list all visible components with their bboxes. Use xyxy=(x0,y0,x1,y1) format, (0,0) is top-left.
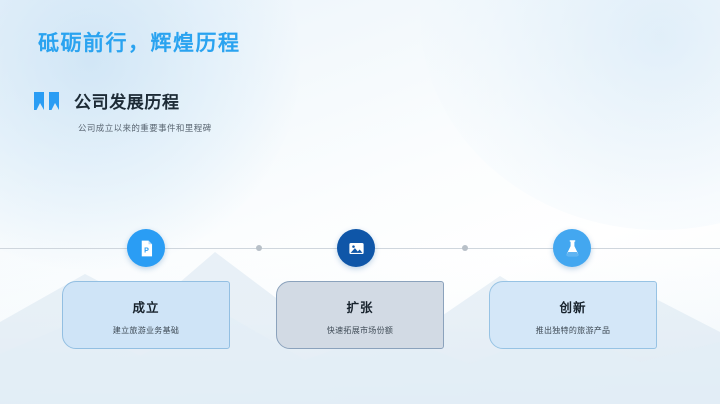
milestone-title: 创新 xyxy=(559,297,586,316)
section-header: 公司发展历程 公司成立以来的重要事件和里程碑 xyxy=(34,88,294,134)
image-picture-icon xyxy=(347,239,366,258)
quote-mark-icon xyxy=(34,90,62,112)
svg-text:P: P xyxy=(144,246,149,254)
background-wash-right xyxy=(420,0,720,230)
section-heading-text: 公司发展历程 xyxy=(74,88,180,113)
milestone-card-2[interactable]: 扩张 快速拓展市场份额 xyxy=(276,281,444,349)
timeline-node-3[interactable] xyxy=(553,229,591,267)
milestone-description: 推出独特的旅游产品 xyxy=(536,325,611,336)
milestone-card-3[interactable]: 创新 推出独特的旅游产品 xyxy=(489,281,657,349)
milestone-title: 扩张 xyxy=(346,297,373,316)
section-subtitle-text: 公司成立以来的重要事件和里程碑 xyxy=(78,122,294,134)
timeline-node-2[interactable] xyxy=(337,229,375,267)
milestone-description: 建立旅游业务基础 xyxy=(113,325,179,336)
milestone-card-1[interactable]: 成立 建立旅游业务基础 xyxy=(62,281,230,349)
page-title: 砥砺前行，辉煌历程 xyxy=(38,27,241,57)
flask-beaker-icon xyxy=(563,239,582,258)
timeline-connector-dot xyxy=(462,245,468,251)
timeline-node-1[interactable]: P xyxy=(127,229,165,267)
slide-canvas: 砥砺前行，辉煌历程 公司发展历程 公司成立以来的重要事件和里程碑 P xyxy=(0,0,720,404)
milestone-title: 成立 xyxy=(132,297,159,316)
document-p-icon: P xyxy=(137,239,156,258)
timeline-connector-dot xyxy=(256,245,262,251)
milestone-description: 快速拓展市场份额 xyxy=(327,325,393,336)
